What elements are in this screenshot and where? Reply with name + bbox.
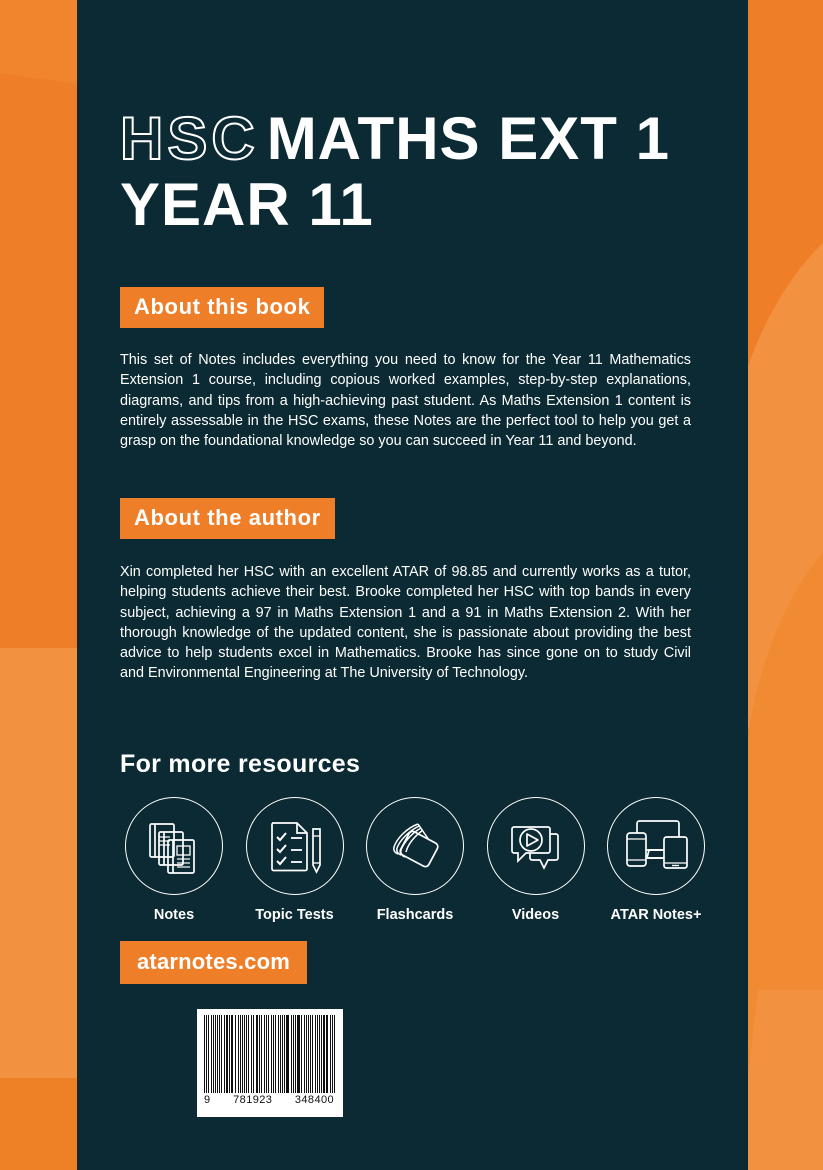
about-author-badge: About the author — [120, 498, 335, 539]
resource-videos-label: Videos — [480, 907, 592, 923]
barcode: 9 781923 348400 — [197, 1009, 343, 1117]
checklist-pencil-icon — [264, 815, 326, 877]
website-button[interactable]: atarnotes.com — [120, 941, 307, 984]
resource-notes-label: Notes — [118, 907, 230, 923]
resource-topic-tests-label: Topic Tests — [239, 907, 351, 923]
resource-topic-tests-circle — [246, 797, 344, 895]
barcode-digits: 9 781923 348400 — [204, 1093, 336, 1106]
barcode-group-left: 781923 — [233, 1094, 272, 1106]
resource-atar-notes-plus-label: ATAR Notes+ — [600, 907, 712, 923]
resource-atar-notes-plus[interactable]: ATAR Notes+ — [600, 797, 712, 923]
about-book-badge: About this book — [120, 287, 324, 328]
barcode-leading-digit: 9 — [204, 1094, 211, 1106]
title-outline-word: HSC — [120, 105, 259, 172]
about-author-text: Xin completed her HSC with an excellent … — [120, 562, 691, 684]
book-back-cover: HSCMATHS EXT 1 YEAR 11 About this book T… — [0, 0, 823, 1170]
about-book-text: This set of Notes includes everything yo… — [120, 350, 691, 451]
flashcards-icon — [383, 814, 447, 878]
devices-icon — [623, 816, 689, 876]
title-line-1: HSCMATHS EXT 1 — [120, 106, 720, 172]
barcode-bars — [204, 1015, 336, 1093]
resource-flashcards-label: Flashcards — [359, 907, 471, 923]
resources-heading: For more resources — [120, 750, 360, 779]
resource-notes[interactable]: Notes — [118, 797, 230, 923]
cover-title: HSCMATHS EXT 1 YEAR 11 — [120, 106, 720, 238]
title-line-2: YEAR 11 — [120, 172, 720, 238]
resources-row: Notes — [118, 797, 712, 923]
resource-flashcards[interactable]: Flashcards — [359, 797, 471, 923]
resource-videos[interactable]: Videos — [480, 797, 592, 923]
resource-atar-notes-plus-circle — [607, 797, 705, 895]
content-panel: HSCMATHS EXT 1 YEAR 11 About this book T… — [77, 0, 748, 1170]
documents-icon — [143, 815, 205, 877]
title-line-1-rest: MATHS EXT 1 — [267, 105, 670, 172]
resource-videos-circle — [487, 797, 585, 895]
barcode-group-right: 348400 — [295, 1094, 334, 1106]
resource-flashcards-circle — [366, 797, 464, 895]
speech-bubble-play-icon — [504, 814, 568, 878]
resource-topic-tests[interactable]: Topic Tests — [239, 797, 351, 923]
resource-notes-circle — [125, 797, 223, 895]
